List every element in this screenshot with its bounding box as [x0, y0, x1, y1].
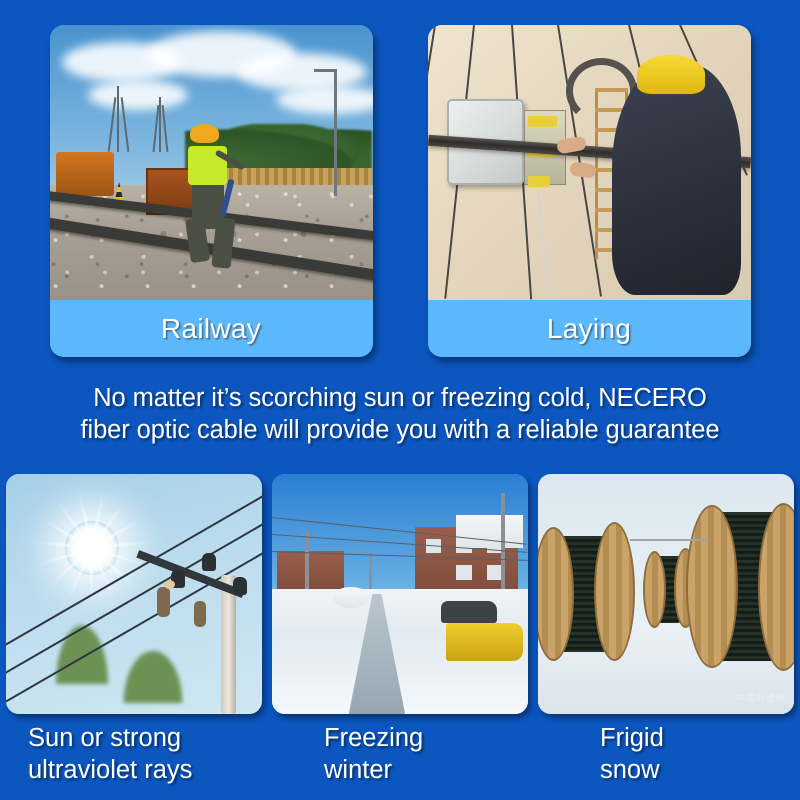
- label-snow-line-2: snow: [600, 754, 774, 786]
- headline: No matter it’s scorching sun or freezing…: [0, 382, 800, 446]
- railway-photo: [50, 25, 373, 300]
- headline-line-1: No matter it’s scorching sun or freezing…: [0, 382, 800, 414]
- card-railway[interactable]: Railway: [50, 25, 373, 357]
- label-sun-line-2: ultraviolet rays: [28, 754, 262, 786]
- card-caption-text: Laying: [547, 313, 631, 345]
- image-watermark: 中国制造网: [736, 691, 786, 704]
- label-sun-line-1: Sun or strong: [28, 722, 262, 754]
- label-winter-line-1: Freezing: [324, 722, 518, 754]
- thumb-winter[interactable]: [272, 474, 528, 714]
- card-laying[interactable]: Laying: [428, 25, 751, 357]
- laying-photo: [428, 25, 751, 300]
- card-caption-laying: Laying: [428, 300, 751, 357]
- sun-icon: [37, 493, 147, 603]
- card-caption-railway: Railway: [50, 300, 373, 357]
- label-sun: Sun or strong ultraviolet rays: [6, 718, 262, 800]
- headline-line-2: fiber optic cable will provide you with …: [0, 414, 800, 446]
- bottom-image-row: 中国制造网: [0, 474, 800, 717]
- label-winter: Freezing winter: [262, 718, 518, 800]
- label-winter-line-2: winter: [324, 754, 518, 786]
- label-snow: Frigid snow: [518, 718, 774, 800]
- bottom-label-row: Sun or strong ultraviolet rays Freezing …: [0, 718, 800, 800]
- top-card-row: Railway Laying: [0, 0, 800, 372]
- thumb-drums[interactable]: 中国制造网: [538, 474, 794, 714]
- label-snow-line-1: Frigid: [600, 722, 774, 754]
- card-caption-text: Railway: [161, 313, 261, 345]
- thumb-sun[interactable]: [6, 474, 262, 714]
